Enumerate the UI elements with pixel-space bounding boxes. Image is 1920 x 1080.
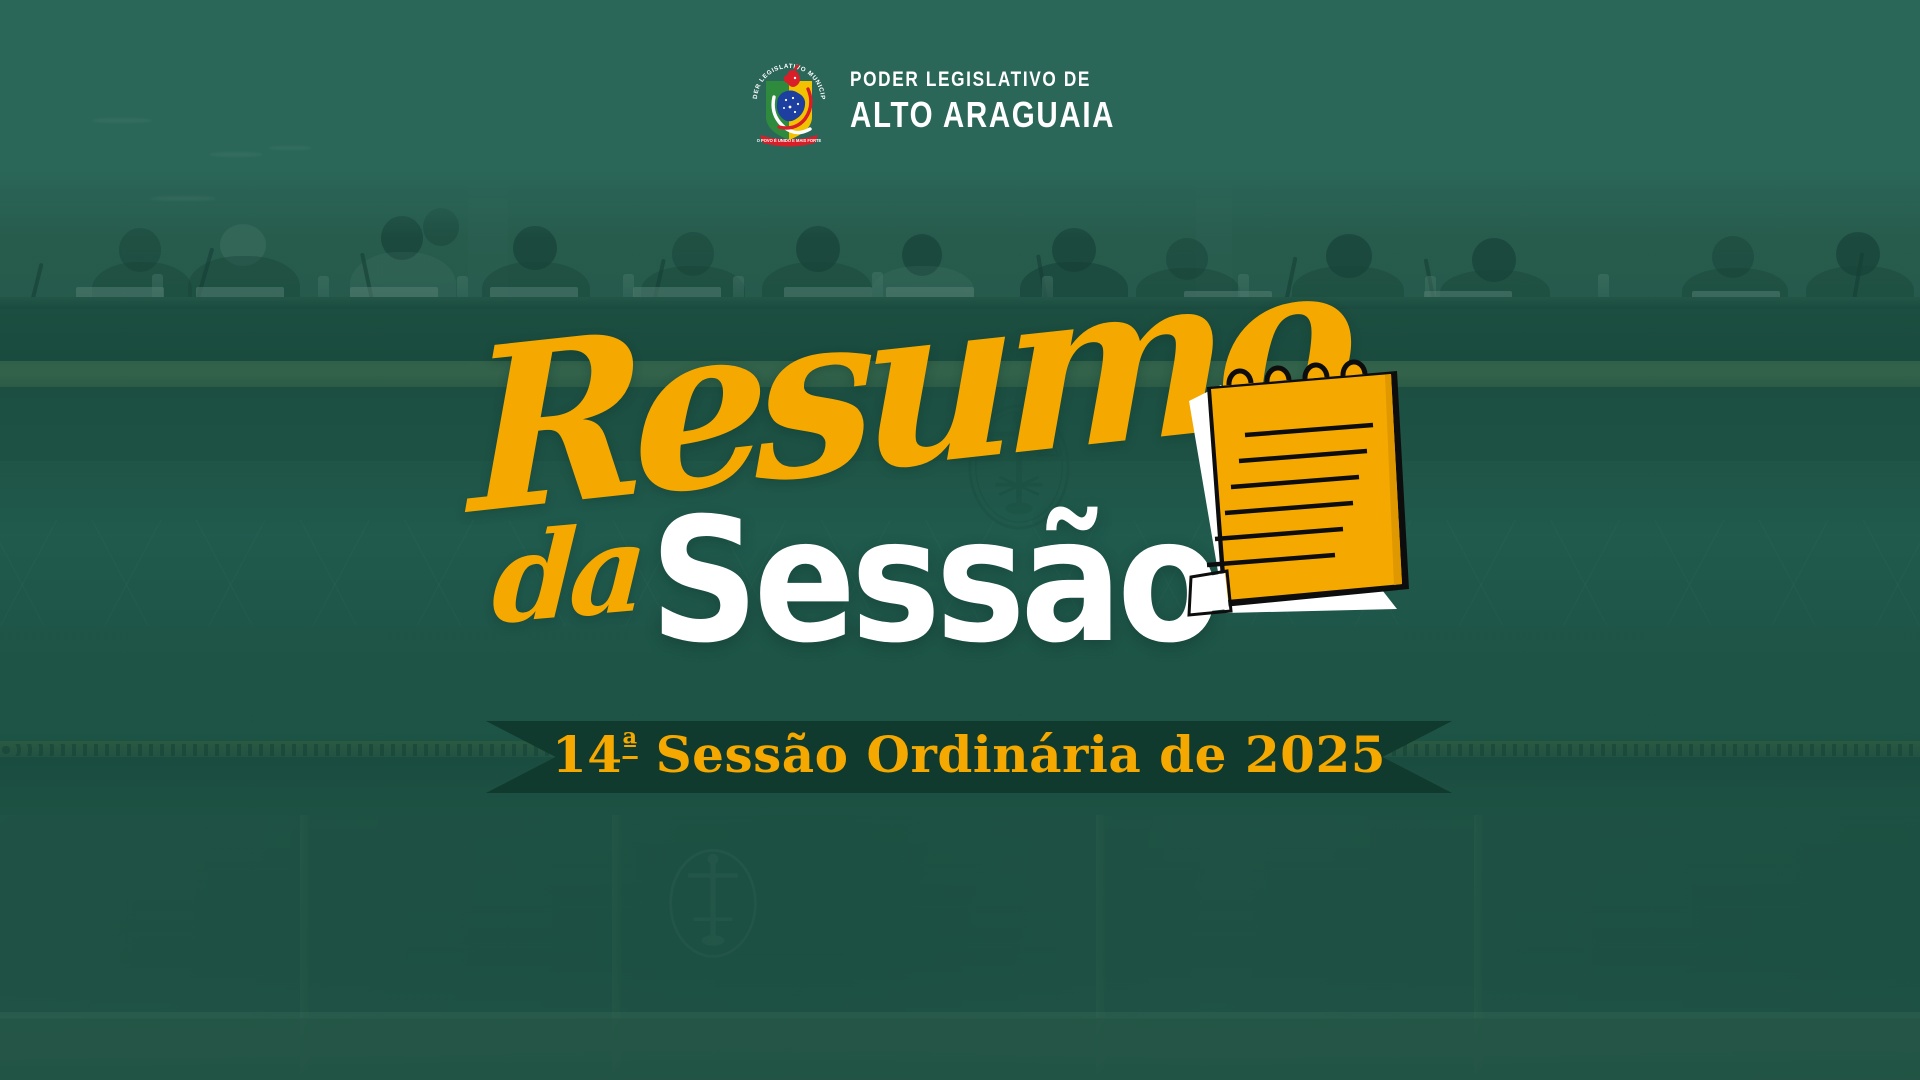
poster-header: PODER LEGISLATIVO MUNICIPAL O POVO É UNI [0, 55, 1920, 147]
wall-scuff [210, 152, 262, 157]
session-number: 14 [552, 725, 623, 784]
svg-text:O POVO É UNIDO E MAIS FORTE: O POVO É UNIDO E MAIS FORTE [757, 138, 822, 143]
header-line-1: PODER LEGISLATIVO DE [850, 69, 1115, 90]
poster-canvas: PODER LEGISLATIVO MUNICIPAL O POVO É UNI [0, 0, 1920, 1080]
session-banner-text: 14ª Sessão Ordinária de 2025 [552, 730, 1386, 780]
session-banner: 14ª Sessão Ordinária de 2025 [486, 721, 1452, 793]
session-banner-rest: Sessão Ordinária de 2025 [638, 725, 1386, 784]
background-photo [0, 0, 1920, 1080]
session-ordinal-suffix: ª [623, 727, 638, 762]
header-line-2: ALTO ARAGUAIA [850, 97, 1115, 133]
header-text-block: PODER LEGISLATIVO DE ALTO ARAGUAIA [850, 69, 1173, 133]
wall-scuff [150, 196, 216, 201]
top-band-fade [0, 168, 1920, 238]
coat-of-arms-icon: PODER LEGISLATIVO MUNICIPAL O POVO É UNI [746, 55, 832, 147]
